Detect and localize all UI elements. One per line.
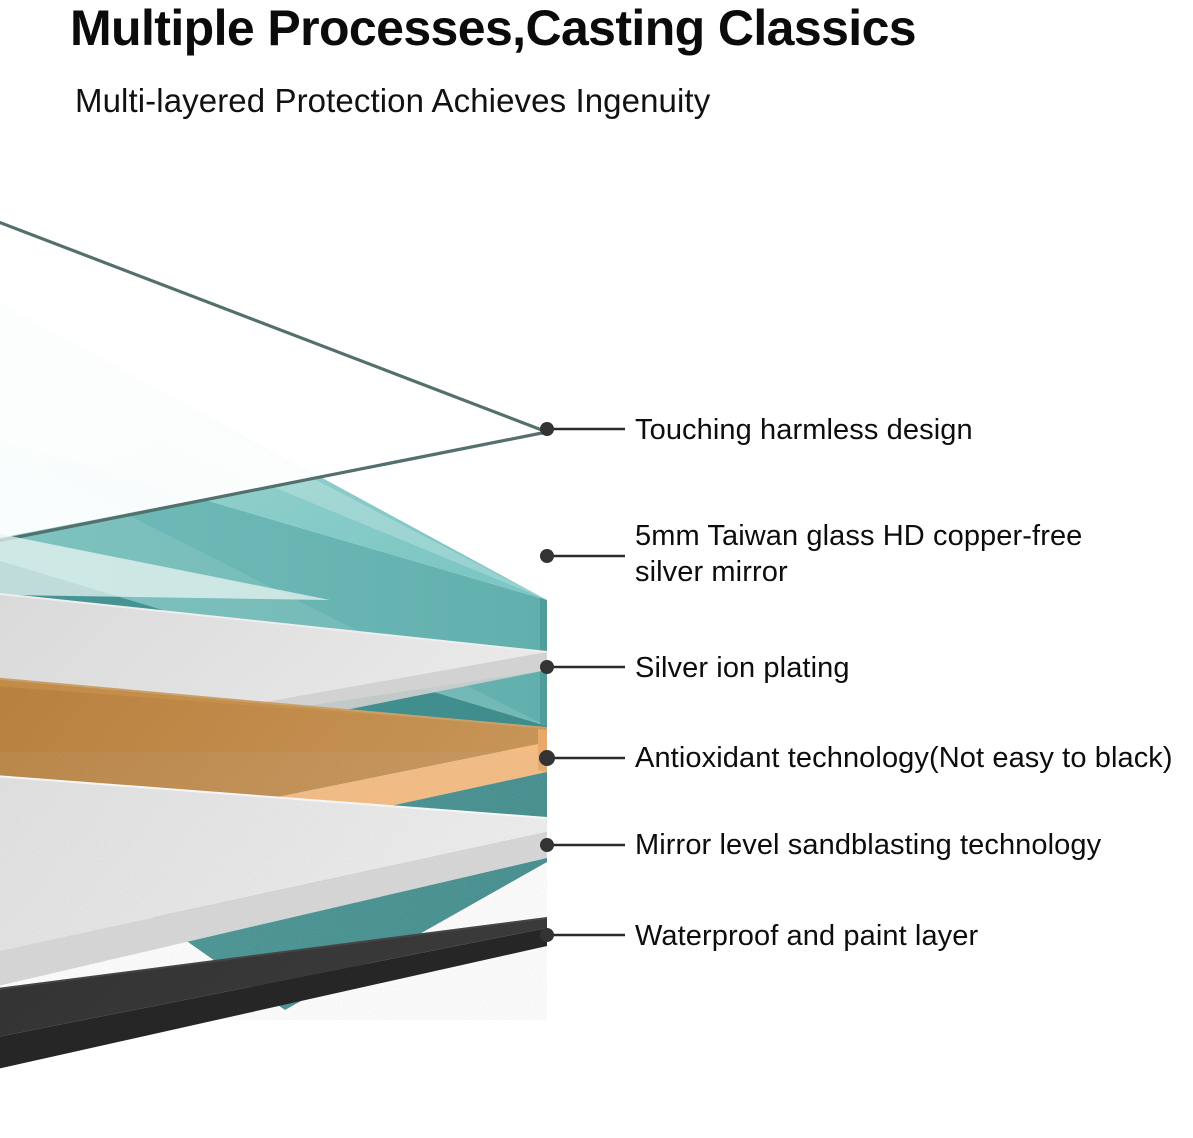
callout-label-taiwan-glass: 5mm Taiwan glass HD copper-free silver m… [635,518,1082,590]
callout-label-touching-harmless-design: Touching harmless design [635,412,973,448]
callout-labels: Touching harmless design 5mm Taiwan glas… [0,0,1193,1138]
callout-label-waterproof-paint-layer: Waterproof and paint layer [635,918,978,954]
callout-label-antioxidant-technology: Antioxidant technology(Not easy to black… [635,740,1173,776]
callout-label-silver-ion-plating: Silver ion plating [635,650,850,686]
callout-label-sandblasting-technology: Mirror level sandblasting technology [635,827,1101,863]
product-layer-diagram: Multiple Processes,Casting Classics Mult… [0,0,1193,1138]
